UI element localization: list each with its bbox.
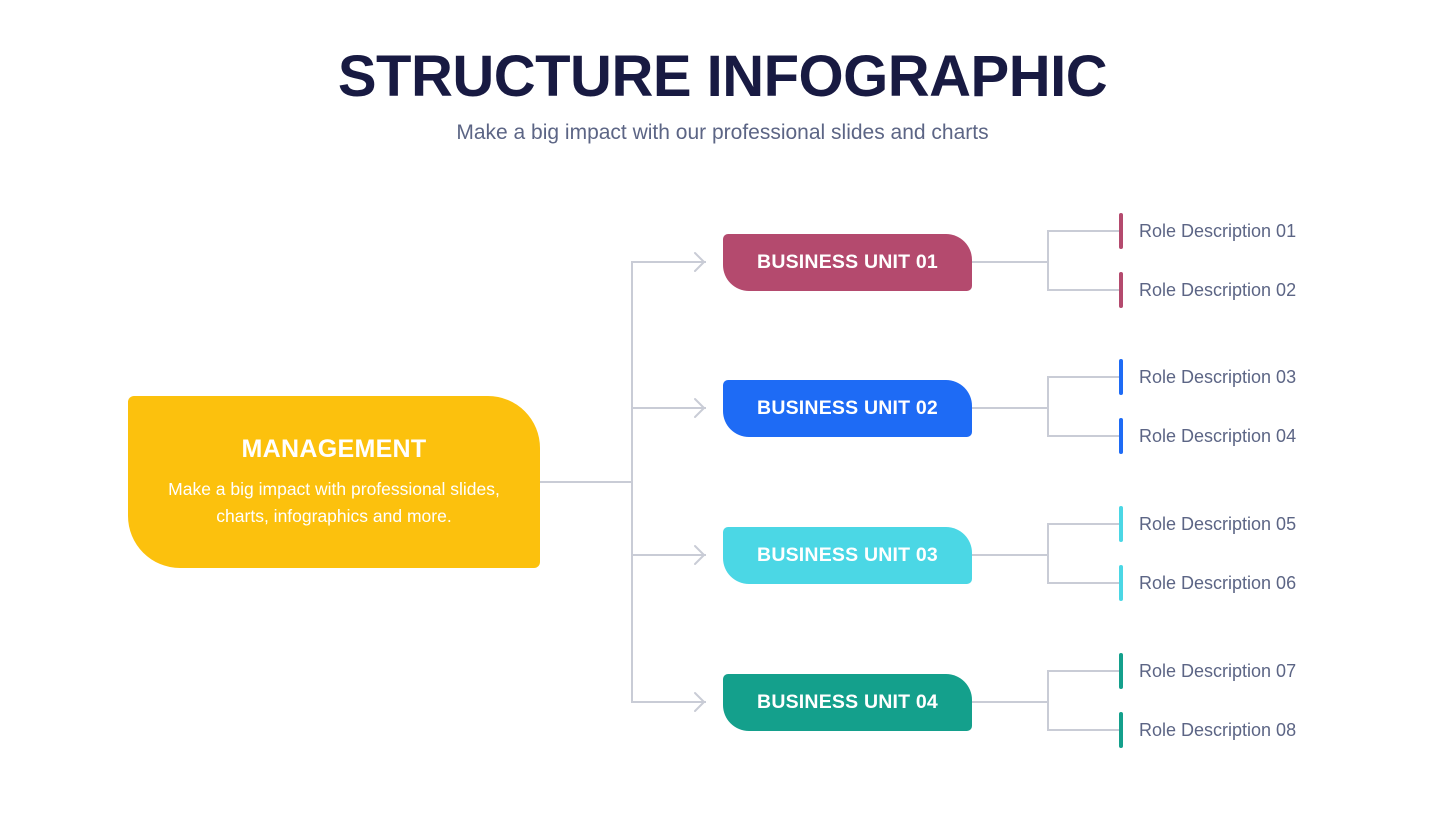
role-label: Role Description 04 (1139, 425, 1296, 447)
role-label: Role Description 08 (1139, 719, 1296, 741)
role-tick-marker (1119, 712, 1123, 748)
role-row[interactable]: Role Description 06 (1119, 565, 1296, 601)
org-structure-diagram: MANAGEMENT Make a big impact with profes… (0, 0, 1445, 813)
business-unit-node-02[interactable]: BUSINESS UNIT 02 (723, 380, 972, 437)
management-node[interactable]: MANAGEMENT Make a big impact with profes… (128, 396, 540, 568)
business-unit-label: BUSINESS UNIT 04 (757, 691, 938, 714)
role-tick-marker (1119, 272, 1123, 308)
business-unit-node-04[interactable]: BUSINESS UNIT 04 (723, 674, 972, 731)
role-row[interactable]: Role Description 02 (1119, 272, 1296, 308)
role-row[interactable]: Role Description 04 (1119, 418, 1296, 454)
management-description: Make a big impact with professional slid… (162, 476, 506, 530)
business-unit-node-03[interactable]: BUSINESS UNIT 03 (723, 527, 972, 584)
role-tick-marker (1119, 653, 1123, 689)
role-label: Role Description 01 (1139, 220, 1296, 242)
role-label: Role Description 03 (1139, 366, 1296, 388)
role-label: Role Description 05 (1139, 513, 1296, 535)
role-tick-marker (1119, 359, 1123, 395)
role-label: Role Description 02 (1139, 279, 1296, 301)
business-unit-label: BUSINESS UNIT 03 (757, 544, 938, 567)
role-label: Role Description 07 (1139, 660, 1296, 682)
role-row[interactable]: Role Description 05 (1119, 506, 1296, 542)
role-row[interactable]: Role Description 01 (1119, 213, 1296, 249)
business-unit-label: BUSINESS UNIT 01 (757, 251, 938, 274)
role-row[interactable]: Role Description 03 (1119, 359, 1296, 395)
role-tick-marker (1119, 213, 1123, 249)
role-row[interactable]: Role Description 08 (1119, 712, 1296, 748)
role-label: Role Description 06 (1139, 572, 1296, 594)
role-tick-marker (1119, 565, 1123, 601)
business-unit-label: BUSINESS UNIT 02 (757, 397, 938, 420)
business-unit-node-01[interactable]: BUSINESS UNIT 01 (723, 234, 972, 291)
management-title: MANAGEMENT (242, 435, 427, 464)
role-tick-marker (1119, 506, 1123, 542)
role-tick-marker (1119, 418, 1123, 454)
role-row[interactable]: Role Description 07 (1119, 653, 1296, 689)
